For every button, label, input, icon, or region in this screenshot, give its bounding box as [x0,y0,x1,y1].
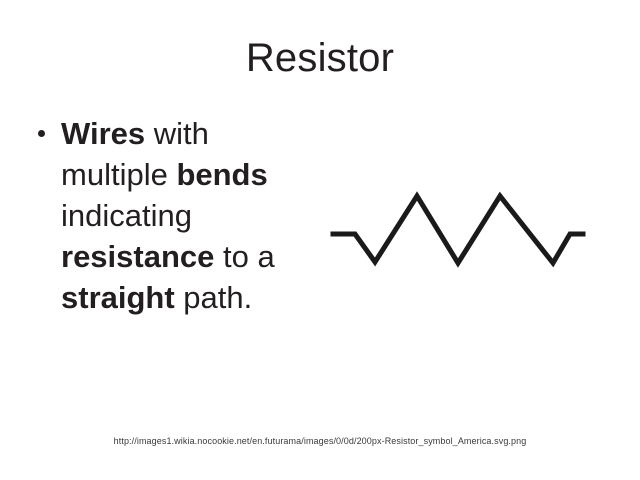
resistor-symbol-icon [325,180,595,275]
bullet-segment-resistance: resistance [61,239,214,274]
bullet-segment-path: path. [175,280,253,315]
resistor-symbol-image [325,180,595,275]
bullet-dot-icon [38,130,45,137]
bullet-segment-to-a: to a [214,239,274,274]
list-item: Wires with multiple bends indicating res… [30,113,320,318]
resistor-zigzag-path [333,196,583,263]
bullet-segment-bends: bends [176,157,267,192]
bullet-list: Wires with multiple bends indicating res… [30,113,320,318]
image-source-caption: http://images1.wikia.nocookie.net/en.fut… [0,435,640,447]
bullet-segment-indicating: indicating [61,198,192,233]
bullet-item-text: Wires with multiple bends indicating res… [61,113,320,318]
page-title: Resistor [0,36,640,80]
bullet-segment-wires: Wires [61,116,145,151]
presentation-slide: Resistor Wires with multiple bends indic… [0,0,640,480]
bullet-segment-straight: straight [61,280,175,315]
